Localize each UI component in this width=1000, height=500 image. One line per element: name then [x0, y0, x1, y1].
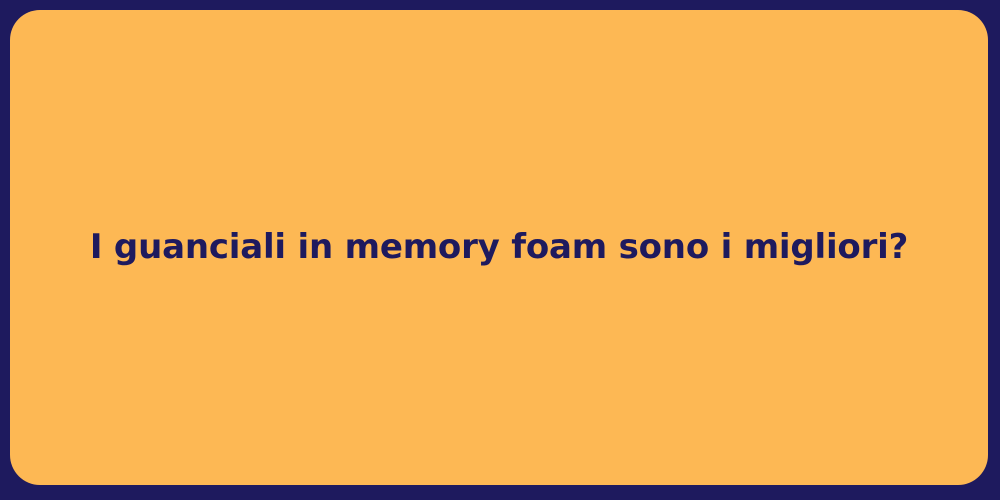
banner-headline: I guanciali in memory foam sono i miglio… [90, 226, 908, 269]
banner-frame: I guanciali in memory foam sono i miglio… [0, 0, 1000, 500]
banner-panel: I guanciali in memory foam sono i miglio… [10, 10, 988, 485]
